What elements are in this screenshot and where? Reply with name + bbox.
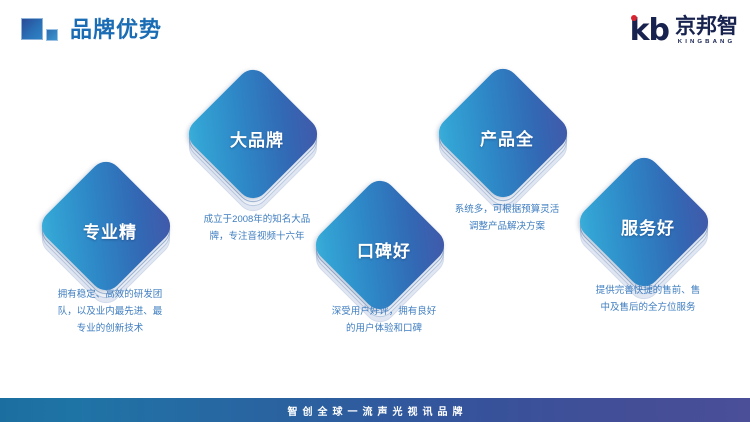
diamond-shape-4: 产品全 xyxy=(453,83,561,191)
advantage-caption-1: 拥有稳定、高效的研发团 队，以及业内最先进、最 专业的创新技术 xyxy=(25,286,195,337)
advantage-item-5[interactable]: 服务好 xyxy=(594,172,702,280)
advantage-item-1[interactable]: 专业精 xyxy=(56,176,164,284)
advantage-item-2[interactable]: 大品牌 xyxy=(203,84,311,192)
diamond-shape-5: 服务好 xyxy=(594,172,702,280)
advantage-label-1: 专业精 xyxy=(56,176,164,284)
advantages-stage: 专业精 拥有稳定、高效的研发团 队，以及业内最先进、最 专业的创新技术 大品牌 … xyxy=(0,0,750,396)
footer-slogan: 智创全球一流声光视讯品牌 xyxy=(283,403,468,418)
advantage-label-4: 产品全 xyxy=(453,83,561,191)
advantage-caption-3: 深受用户好评，拥有良好 的用户体验和口碑 xyxy=(299,303,469,337)
advantage-caption-5: 提供完善快捷的售前、售 中及售后的全方位服务 xyxy=(563,282,733,316)
advantage-caption-4: 系统多，可根据预算灵活 调整产品解决方案 xyxy=(422,201,592,235)
advantage-label-5: 服务好 xyxy=(594,172,702,280)
advantage-label-2: 大品牌 xyxy=(203,84,311,192)
diamond-shape-1: 专业精 xyxy=(56,176,164,284)
diamond-shape-2: 大品牌 xyxy=(203,84,311,192)
page-footer: 智创全球一流声光视讯品牌 xyxy=(0,398,750,422)
advantage-item-4[interactable]: 产品全 xyxy=(453,83,561,191)
